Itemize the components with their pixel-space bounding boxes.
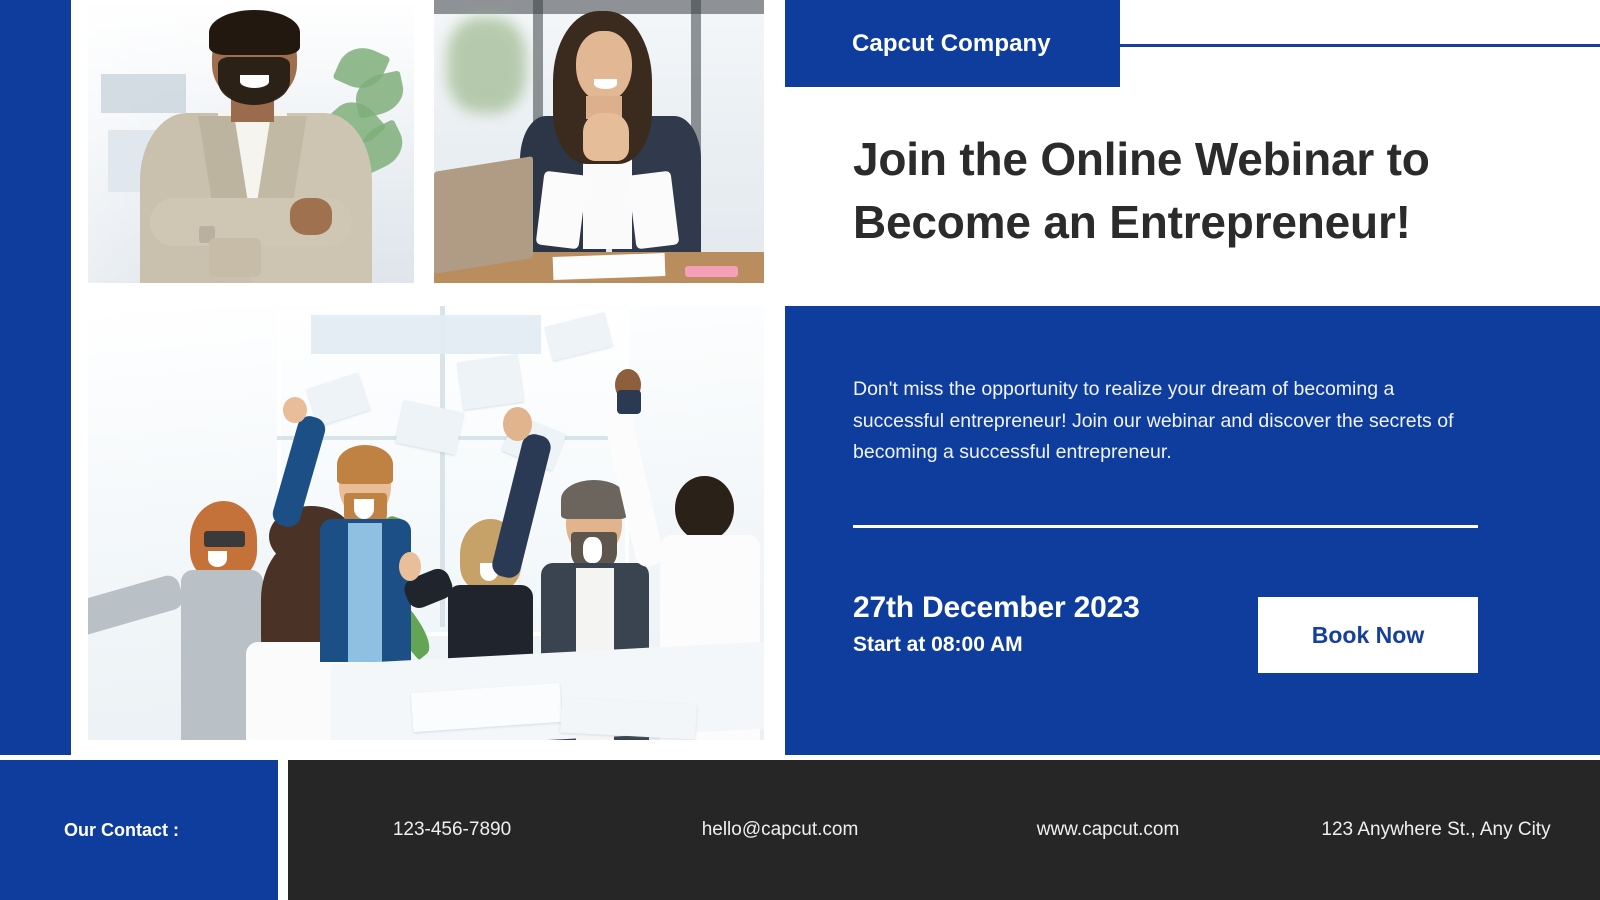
- shelf-shape: [101, 74, 186, 114]
- event-schedule: 27th December 2023 Start at 08:00 AM: [853, 591, 1140, 657]
- header-divider-rule: [1120, 44, 1600, 47]
- contact-label-box: Our Contact :: [0, 760, 278, 900]
- brand-name: Capcut Company: [852, 30, 1051, 58]
- photo-woman-at-laptop: [434, 0, 764, 283]
- flying-paper: [457, 354, 524, 410]
- contact-label: Our Contact :: [64, 820, 179, 841]
- contact-phone[interactable]: 123-456-7890: [288, 819, 616, 841]
- smile-shape: [240, 75, 269, 88]
- left-accent-bar: [0, 0, 71, 755]
- document-shape: [552, 253, 665, 280]
- details-panel: Don't miss the opportunity to realize yo…: [785, 306, 1600, 755]
- brand-badge: Capcut Company: [785, 0, 1120, 87]
- cuff-left: [535, 170, 587, 248]
- cuff-right: [628, 170, 680, 248]
- hand-shape: [290, 198, 332, 235]
- event-time: Start at 08:00 AM: [853, 633, 1140, 657]
- foliage-blur: [447, 17, 526, 113]
- panel-divider-rule: [853, 525, 1478, 528]
- contact-address: 123 Anywhere St., Any City: [1272, 819, 1600, 841]
- book-now-label: Book Now: [1312, 622, 1424, 649]
- description-text: Don't miss the opportunity to realize yo…: [853, 374, 1487, 469]
- hair-shape: [209, 10, 300, 55]
- book-now-button[interactable]: Book Now: [1258, 597, 1478, 673]
- photo-man-in-tan-blazer: [88, 0, 414, 283]
- cuff-shape: [209, 238, 261, 278]
- page-title: Join the Online Webinar to Become an Ent…: [853, 128, 1513, 255]
- laptop-shape: [434, 156, 533, 274]
- contact-website[interactable]: www.capcut.com: [944, 819, 1272, 841]
- ceiling-light: [311, 315, 541, 354]
- event-date: 27th December 2023: [853, 591, 1140, 625]
- clasped-hands: [583, 113, 629, 161]
- table-document: [560, 697, 697, 739]
- pink-notebook-shape: [685, 266, 738, 277]
- contact-email[interactable]: hello@capcut.com: [616, 819, 944, 841]
- contact-bar: 123-456-7890 hello@capcut.com www.capcut…: [288, 760, 1600, 900]
- photo-team-celebrating: [88, 306, 764, 740]
- face-shape: [576, 31, 632, 102]
